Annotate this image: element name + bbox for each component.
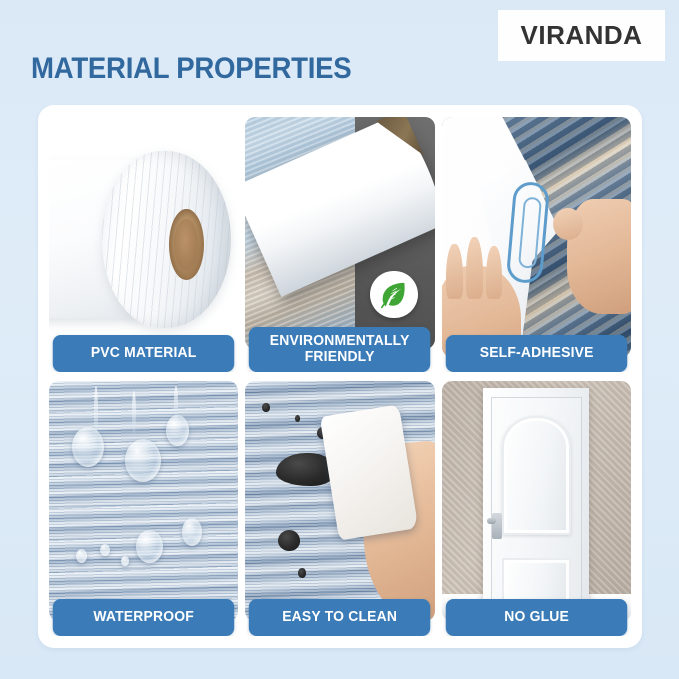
door-frame <box>483 388 589 609</box>
water-droplet <box>166 415 189 446</box>
brand-logo: VIRANDA <box>498 10 665 61</box>
water-droplet <box>125 439 161 482</box>
right-hand-shape <box>567 199 631 314</box>
eco-film-image <box>245 117 434 349</box>
waterproof-image <box>49 381 238 621</box>
feature-card-pvc-material[interactable]: PVC MATERIAL <box>49 117 238 372</box>
door-panel-top <box>502 416 571 535</box>
feature-card-grid: PVC MATERIAL ENVIRONMENTALLY FRIENDLY <box>38 105 642 648</box>
stain-mark <box>298 568 306 578</box>
feature-label-no-glue: NO GLUE <box>445 599 627 636</box>
water-droplet <box>72 427 104 468</box>
feature-card-waterproof[interactable]: WATERPROOF <box>49 381 238 636</box>
door-panel-bottom <box>502 558 571 605</box>
door-handle <box>492 513 502 538</box>
no-glue-image <box>442 381 631 621</box>
feature-label-easy-to-clean: EASY TO CLEAN <box>249 599 431 636</box>
self-adhesive-image <box>442 117 631 357</box>
pvc-roll-image <box>49 117 238 357</box>
stain-mark <box>278 530 301 552</box>
feature-label-self-adhesive: SELF-ADHESIVE <box>445 335 627 372</box>
water-droplet <box>136 530 163 564</box>
pvc-roll-shape <box>102 151 231 328</box>
wood-grain-texture <box>49 381 238 621</box>
feature-card-easy-to-clean[interactable]: EASY TO CLEAN <box>245 381 434 636</box>
brand-name: VIRANDA <box>521 20 643 51</box>
water-droplet <box>100 544 109 556</box>
feature-card-self-adhesive[interactable]: SELF-ADHESIVE <box>442 117 631 372</box>
stain-mark <box>262 403 270 413</box>
feature-label-environmentally-friendly: ENVIRONMENTALLY FRIENDLY <box>249 327 431 372</box>
eco-leaf-badge <box>370 271 417 318</box>
feature-label-waterproof: WATERPROOF <box>53 599 235 636</box>
leaf-icon <box>378 279 409 310</box>
stain-mark <box>295 415 301 422</box>
pvc-core-shape <box>169 209 204 280</box>
water-droplet <box>121 556 129 566</box>
feature-card-environmentally-friendly[interactable]: ENVIRONMENTALLY FRIENDLY <box>245 117 434 372</box>
page-title: MATERIAL PROPERTIES <box>31 52 351 86</box>
easy-to-clean-image <box>245 381 434 621</box>
feature-card-no-glue[interactable]: NO GLUE <box>442 381 631 636</box>
door-slab <box>491 397 582 609</box>
water-droplet <box>76 549 87 563</box>
feature-label-pvc-material: PVC MATERIAL <box>53 335 235 372</box>
